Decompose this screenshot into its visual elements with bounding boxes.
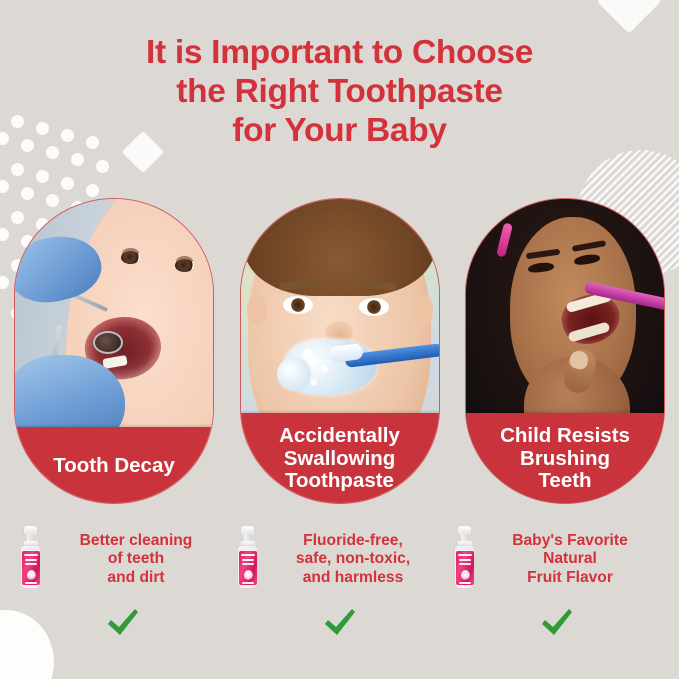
benefit-text-fluoride-free: Fluoride-free, safe, non-toxic, and harm…: [258, 524, 448, 587]
dot-decoration: [11, 163, 24, 176]
dot-decoration: [0, 228, 9, 241]
infographic-poster: It is Important to Choose the Right Toot…: [0, 0, 679, 679]
foam-bottle-icon: [237, 526, 258, 588]
benefit-text-line: Fruit Flavor: [475, 569, 665, 587]
card-label-line: Toothpaste: [279, 470, 400, 493]
dot-decoration: [61, 177, 74, 190]
benefit-fluoride-free: Fluoride-free, safe, non-toxic, and harm…: [231, 524, 448, 664]
foam-bottle-icon: [454, 526, 475, 588]
dot-decoration: [71, 153, 84, 166]
benefit-text-line: of teeth: [41, 550, 231, 568]
card-label-line: Teeth: [500, 470, 630, 493]
dot-decoration: [86, 184, 99, 197]
dot-decoration: [0, 180, 9, 193]
dot-decoration: [0, 276, 9, 289]
headline-line-3: for Your Baby: [0, 112, 679, 151]
card-label-swallowing-toothpaste: Accidentally Swallowing Toothpaste: [240, 413, 440, 504]
card-resists-brushing: Child Resists Brushing Teeth: [465, 198, 665, 504]
benefit-text-better-cleaning: Better cleaning of teeth and dirt: [41, 524, 231, 587]
benefit-text-fruit-flavor: Baby's Favorite Natural Fruit Flavor: [475, 524, 665, 587]
headline-line-2: the Right Toothpaste: [0, 73, 679, 112]
benefit-text-line: and dirt: [41, 569, 231, 587]
check-mark-icon: [106, 608, 140, 638]
check-mark-icon: [540, 608, 574, 638]
benefit-text-line: Fluoride-free,: [258, 532, 448, 550]
white-diamond-decoration-top: [596, 0, 661, 34]
card-swallowing-toothpaste: Accidentally Swallowing Toothpaste: [240, 198, 440, 504]
card-label-line: Tooth Decay: [53, 455, 175, 478]
headline-line-1: It is Important to Choose: [0, 34, 679, 73]
dot-decoration: [36, 170, 49, 183]
foam-bottle-icon: [20, 526, 41, 588]
card-label-line: Swallowing: [279, 448, 400, 471]
card-label-line: Accidentally: [279, 425, 400, 448]
dot-decoration: [96, 160, 109, 173]
benefit-text-line: Baby's Favorite: [475, 532, 665, 550]
benefit-fruit-flavor: Baby's Favorite Natural Fruit Flavor: [448, 524, 665, 664]
card-label-tooth-decay: Tooth Decay: [14, 427, 214, 504]
benefit-text-line: Natural: [475, 550, 665, 568]
page-title: It is Important to Choose the Right Toot…: [0, 34, 679, 151]
card-list: Tooth Decay: [14, 198, 665, 504]
card-label-line: Child Resists: [500, 425, 630, 448]
benefit-text-line: Better cleaning: [41, 532, 231, 550]
card-tooth-decay: Tooth Decay: [14, 198, 214, 504]
benefit-text-line: safe, non-toxic,: [258, 550, 448, 568]
benefit-list: Better cleaning of teeth and dirt: [14, 524, 665, 664]
card-label-line: Brushing: [500, 448, 630, 471]
benefit-better-cleaning: Better cleaning of teeth and dirt: [14, 524, 231, 664]
card-label-resists-brushing: Child Resists Brushing Teeth: [465, 413, 665, 504]
check-mark-icon: [323, 608, 357, 638]
benefit-text-line: and harmless: [258, 569, 448, 587]
